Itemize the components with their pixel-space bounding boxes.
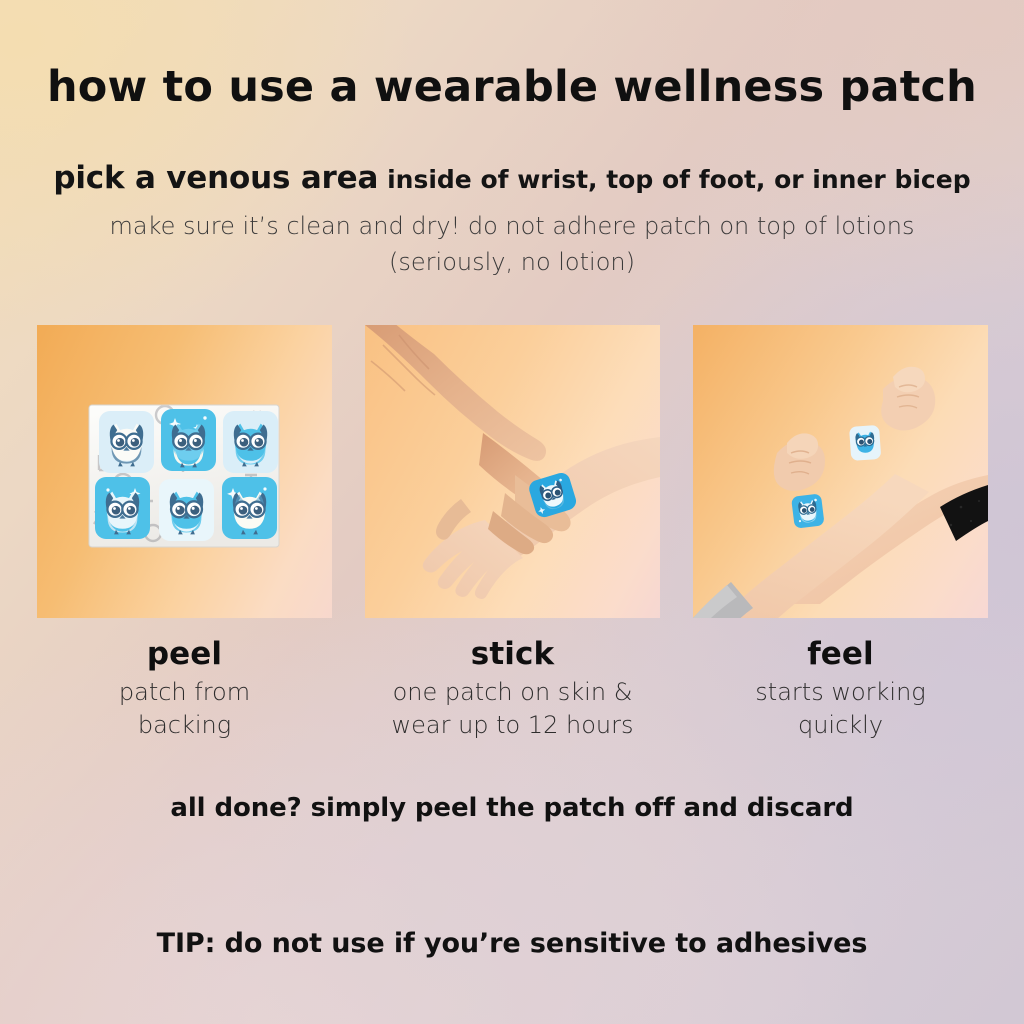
step-image-feel	[693, 325, 988, 618]
step-desc-peel-line1: patch from	[37, 676, 332, 709]
step-image-stick	[365, 325, 660, 618]
step-caption-feel: feel starts working quickly	[693, 636, 988, 746]
footer-note: all done? simply peel the patch off and …	[0, 793, 1024, 823]
step-description-feel: starts working quickly	[693, 676, 988, 742]
worn-patch-lower	[791, 493, 825, 528]
worn-patch-upper	[849, 425, 881, 461]
footer-tip: TIP: do not use if you’re sensitive to a…	[0, 928, 1024, 959]
step-desc-stick-line2: wear up to 12 hours	[365, 709, 660, 742]
feel-photo-illustration	[693, 325, 988, 618]
stick-photo-illustration	[365, 325, 660, 618]
instruction-lead-rest: inside of wrist, top of foot, or inner b…	[387, 165, 971, 194]
step-description-stick: one patch on skin & wear up to 12 hours	[365, 676, 660, 742]
instruction-detail: make sure it’s clean and dry! do not adh…	[0, 208, 1024, 280]
instruction-detail-line1: make sure it’s clean and dry! do not adh…	[0, 208, 1024, 244]
step-description-peel: patch from backing	[37, 676, 332, 742]
instruction-lead: pick a venous area inside of wrist, top …	[0, 160, 1024, 196]
step-desc-stick-line1: one patch on skin &	[365, 676, 660, 709]
step-image-row	[37, 325, 988, 618]
step-caption-row: peel patch from backing stick one patch …	[37, 636, 988, 746]
infographic-page: how to use a wearable wellness patch pic…	[0, 0, 1024, 1024]
step-desc-feel-line2: quickly	[693, 709, 988, 742]
step-desc-feel-line1: starts working	[693, 676, 988, 709]
step-image-peel	[37, 325, 332, 618]
page-title: how to use a wearable wellness patch	[0, 62, 1024, 112]
peel-photo-illustration	[37, 325, 332, 618]
step-caption-stick: stick one patch on skin & wear up to 12 …	[365, 636, 660, 746]
instruction-detail-line2: (seriously, no lotion)	[0, 244, 1024, 280]
instruction-lead-bold: pick a venous area	[53, 160, 378, 196]
step-heading-stick: stick	[365, 636, 660, 672]
step-desc-peel-line2: backing	[37, 709, 332, 742]
step-caption-peel: peel patch from backing	[37, 636, 332, 746]
step-heading-peel: peel	[37, 636, 332, 672]
step-heading-feel: feel	[693, 636, 988, 672]
